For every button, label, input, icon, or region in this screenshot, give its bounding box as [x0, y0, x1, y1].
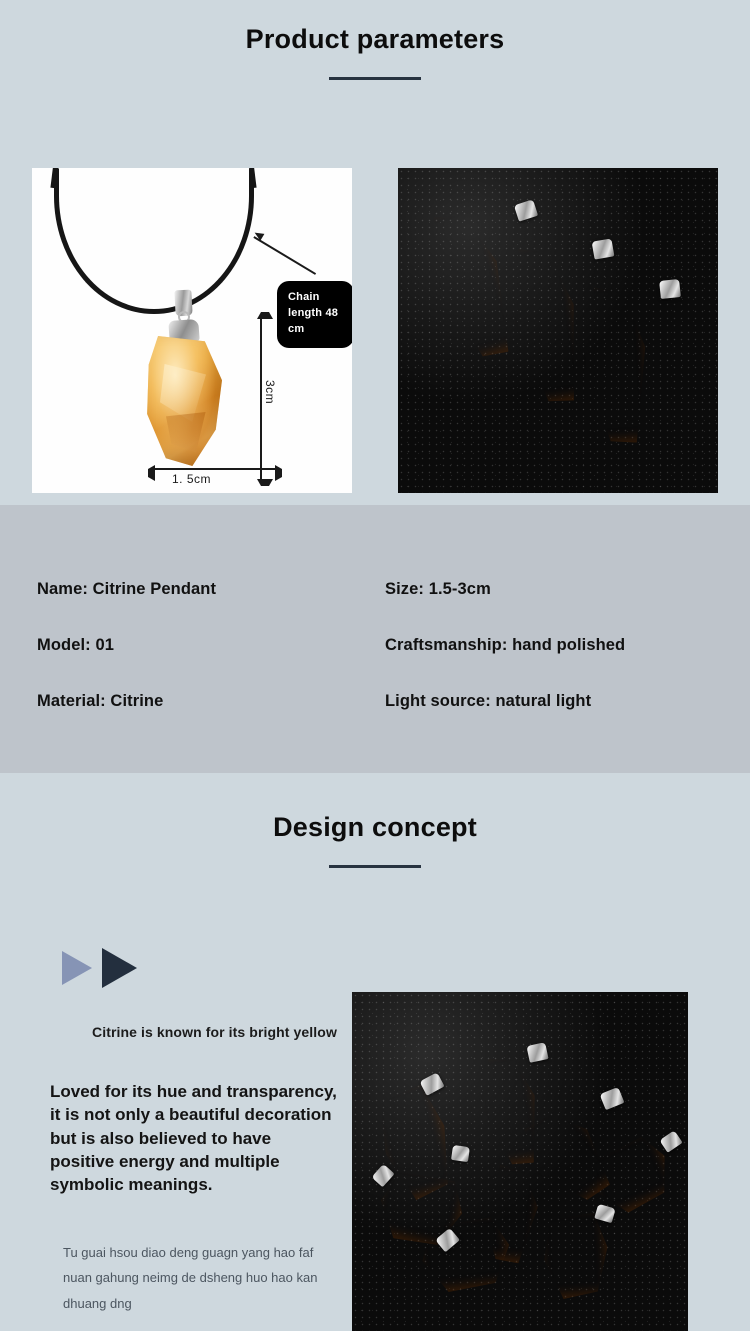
- velvet-backdrop: [352, 992, 688, 1331]
- pendant-bail: [659, 279, 681, 299]
- design-lead-line: Citrine is known for its bright yellow: [92, 1024, 337, 1040]
- design-body-copy: Loved for its hue and transparency, it i…: [50, 1080, 340, 1196]
- pinyin-line: Tu guai hsou diao deng guagn yang hao fa…: [63, 1240, 341, 1265]
- chain-length-tooltip: Chain length 48 cm: [277, 281, 352, 348]
- specifications-grid: Name: Citrine Pendant Size: 1.5-3cm Mode…: [0, 580, 750, 711]
- pinyin-line: nuan gahung neimg de dsheng huo hao kan: [63, 1265, 341, 1290]
- product-photo-eight-pendants[interactable]: [352, 992, 688, 1331]
- title-divider: [329, 865, 421, 868]
- product-photo-row: Chain length 48 cm 3cm 1. 5cm: [0, 168, 750, 493]
- title-divider: [329, 77, 421, 80]
- pendant-bail: [451, 1145, 470, 1162]
- pendant-bail: [592, 238, 615, 259]
- spec-size: Size: 1.5-3cm: [385, 580, 750, 599]
- product-detail-page: Product parameters Chain length 48 cm 3: [0, 0, 750, 1331]
- width-dimension-line: [154, 468, 276, 470]
- necklace-cord: [54, 168, 254, 314]
- product-parameters-section-header: Product parameters: [0, 24, 750, 80]
- spec-light-source: Light source: natural light: [385, 692, 750, 711]
- page-title: Product parameters: [0, 24, 750, 55]
- studio-photo-canvas: Chain length 48 cm 3cm 1. 5cm: [32, 168, 352, 493]
- triangle-right-dark-icon: [102, 948, 137, 988]
- triangle-right-light-icon: [62, 951, 92, 985]
- width-dimension-label: 1. 5cm: [172, 472, 211, 486]
- decorative-arrows: [62, 948, 137, 988]
- design-concept-section-header: Design concept: [0, 812, 750, 868]
- pinyin-caption: Tu guai hsou diao deng guagn yang hao fa…: [63, 1240, 341, 1316]
- spec-name: Name: Citrine Pendant: [37, 580, 385, 599]
- height-dimension-line: [260, 318, 262, 480]
- height-dimension-label: 3cm: [263, 380, 277, 404]
- callout-leader-line: [254, 236, 316, 274]
- pinyin-line: dhuang dng: [63, 1291, 341, 1316]
- product-photo-dimensions[interactable]: Chain length 48 cm 3cm 1. 5cm: [32, 168, 352, 493]
- velvet-backdrop: [398, 168, 718, 493]
- spec-material: Material: Citrine: [37, 692, 385, 711]
- product-photo-three-pendants[interactable]: [398, 168, 718, 493]
- spec-craftsmanship: Craftsmanship: hand polished: [385, 636, 750, 655]
- design-concept-title: Design concept: [0, 812, 750, 843]
- spec-model: Model: 01: [37, 636, 385, 655]
- specifications-band: Name: Citrine Pendant Size: 1.5-3cm Mode…: [0, 505, 750, 773]
